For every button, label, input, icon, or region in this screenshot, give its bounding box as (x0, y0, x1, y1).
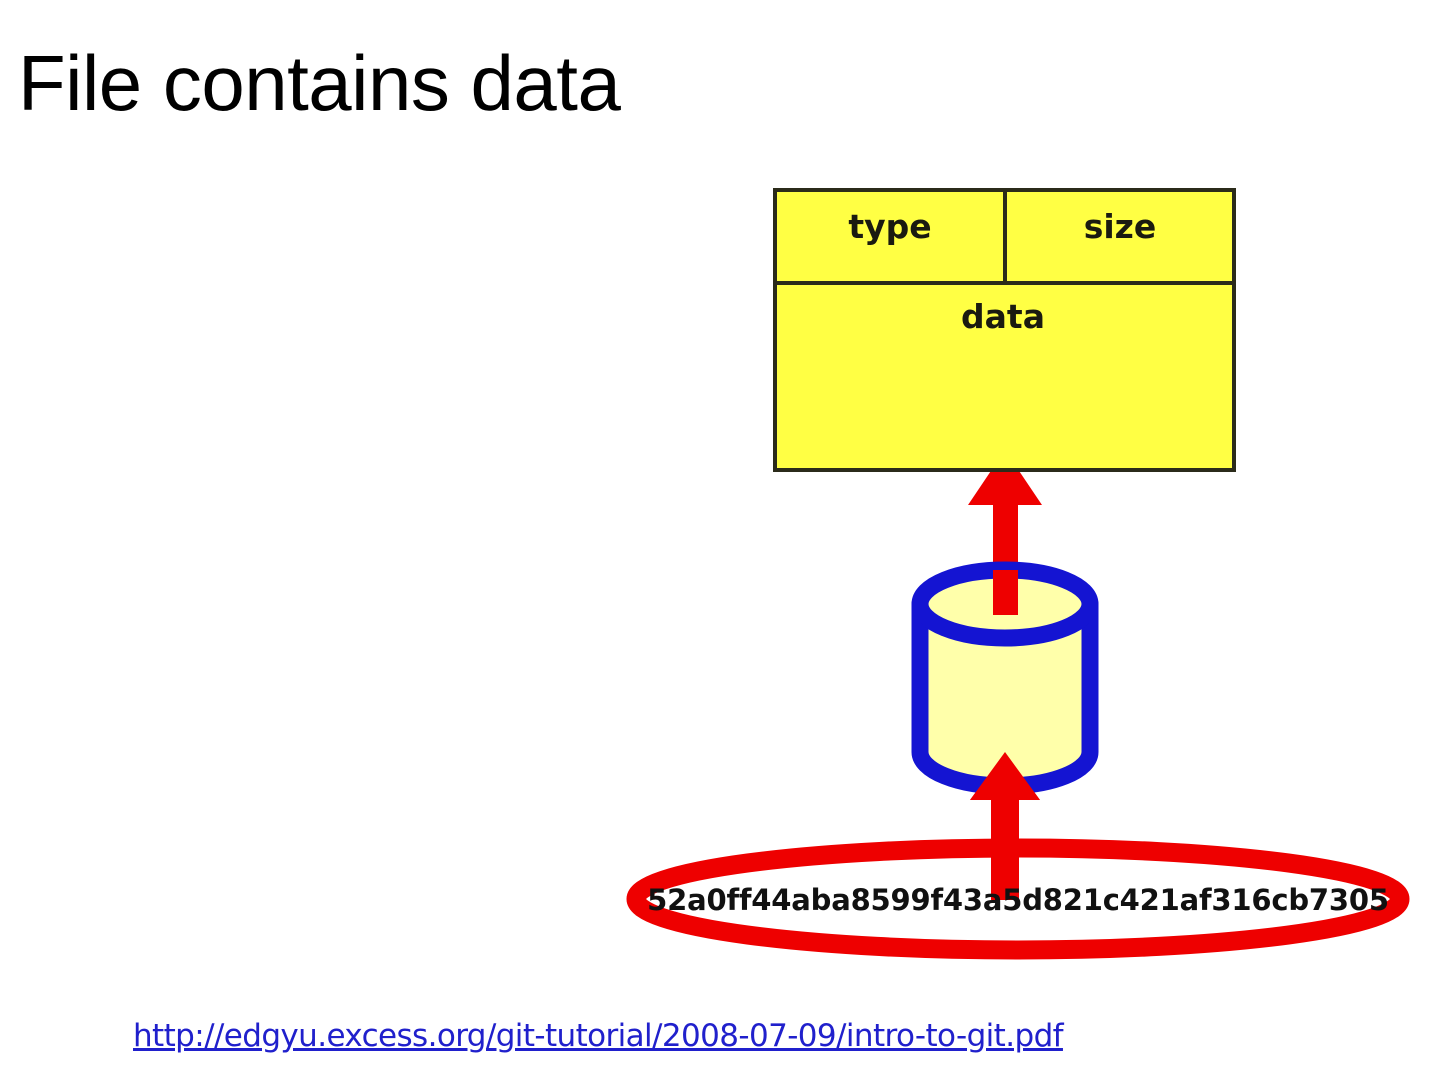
file-contains-data-diagram: type size data 52a0ff44aba8599f43a5d821c… (0, 0, 1440, 1080)
hash-value: 52a0ff44aba8599f43a5d821c421af316cb7305 (647, 883, 1389, 917)
object-table-cell-data: data (961, 297, 1045, 336)
object-table-cell-size: size (1084, 207, 1157, 246)
source-link[interactable]: http://edgyu.excess.org/git-tutorial/200… (133, 1017, 1063, 1055)
object-table: type size data (775, 190, 1234, 470)
store-to-file-arrow-stem-overlay (993, 570, 1018, 615)
object-table-cell-type: type (848, 207, 931, 246)
